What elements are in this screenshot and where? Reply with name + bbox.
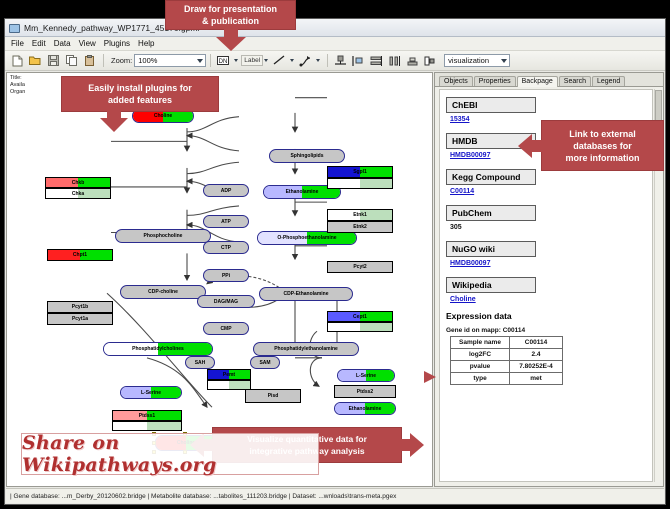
screenshot-root: Mm_Kennedy_pathway_WP1771_45176.gpml Fil… bbox=[0, 0, 670, 509]
node-phosphatidylcholines[interactable]: Phosphatidylcholines bbox=[103, 342, 213, 356]
expr-cell-value: C00114 bbox=[510, 337, 563, 349]
pathway-canvas[interactable]: Title: Availa Organ bbox=[6, 72, 433, 487]
datanode-icon[interactable]: DN bbox=[215, 52, 231, 69]
stack-icon[interactable] bbox=[368, 52, 384, 69]
node-pemt[interactable]: Pemt bbox=[207, 369, 251, 380]
node-cept1[interactable]: Cept1 bbox=[327, 311, 393, 322]
group-icon[interactable] bbox=[404, 52, 420, 69]
svg-text:DN: DN bbox=[219, 59, 228, 65]
node-label: Phosphocholine bbox=[144, 233, 183, 239]
callout-draw-line1: Draw for presentation bbox=[184, 3, 277, 15]
node-atp[interactable]: ATP bbox=[203, 215, 249, 228]
menu-item-help[interactable]: Help bbox=[138, 39, 154, 48]
side-panel-tabs: Objects Properties Backpage Search Legen… bbox=[435, 73, 663, 87]
node-etnk1[interactable]: Etnk1 bbox=[327, 209, 393, 221]
node-sah[interactable]: SAH bbox=[185, 356, 215, 369]
distribute-icon[interactable] bbox=[386, 52, 402, 69]
callout-links-line2: databases for bbox=[565, 140, 639, 152]
line-tool-icon[interactable] bbox=[271, 52, 287, 69]
node-label: CTP bbox=[221, 245, 231, 251]
node-ptdss1-lower[interactable] bbox=[112, 421, 182, 431]
tab-legend[interactable]: Legend bbox=[592, 76, 625, 86]
node-label: CMP bbox=[220, 326, 231, 332]
node-chkb[interactable]: Chkb bbox=[45, 177, 111, 188]
toolbar-separator bbox=[103, 54, 104, 67]
node-pcyt1b[interactable]: Pcyt1b bbox=[47, 301, 113, 313]
node-label: ATP bbox=[221, 219, 231, 225]
node-chka[interactable]: Chka bbox=[45, 188, 111, 199]
paste-icon[interactable] bbox=[81, 52, 97, 69]
save-icon[interactable] bbox=[45, 52, 61, 69]
share-banner: Share on Wikipathways.org bbox=[21, 433, 319, 475]
pathvisio-window: Mm_Kennedy_pathway_WP1771_45176.gpml Fil… bbox=[4, 18, 666, 505]
tab-backpage[interactable]: Backpage bbox=[517, 76, 558, 87]
copy-icon[interactable] bbox=[63, 52, 79, 69]
status-text: | Gene database: ...m_Derby_20120602.bri… bbox=[6, 493, 396, 500]
node-label: Pcyt1a bbox=[72, 316, 88, 322]
callout-draw: Draw for presentation & publication bbox=[165, 0, 296, 30]
chevron-down-icon[interactable] bbox=[316, 59, 320, 62]
callout-plugins-arrow bbox=[99, 110, 129, 132]
node-chpt1[interactable]: Chpt1 bbox=[47, 249, 113, 261]
scrollbar-thumb[interactable] bbox=[655, 90, 662, 124]
expr-cell-value: met bbox=[510, 373, 563, 385]
callout-links-arrow bbox=[518, 132, 544, 160]
callout-plugins-line1: Easily install plugins for bbox=[88, 82, 192, 94]
backpage-value-pubchem: 305 bbox=[450, 224, 646, 231]
callout-visualize-arrow-right bbox=[400, 431, 424, 459]
backpage-link-kegg[interactable]: C00114 bbox=[450, 188, 646, 195]
expr-cell-value: 7.80252E-4 bbox=[510, 361, 563, 373]
title-bar: Mm_Kennedy_pathway_WP1771_45176.gpml bbox=[5, 19, 665, 37]
align-left-icon[interactable] bbox=[350, 52, 366, 69]
toolbar-separator bbox=[327, 54, 328, 67]
callout-links-line3: more information bbox=[565, 152, 639, 164]
node-pcyt2[interactable]: Pcyt2 bbox=[327, 261, 393, 273]
zoom-combo[interactable]: 100% bbox=[134, 54, 206, 67]
zoom-label: Zoom: bbox=[111, 56, 132, 65]
callout-links-line1: Link to external bbox=[565, 128, 639, 140]
node-sgpl1[interactable]: Sgpl1 bbox=[327, 166, 393, 178]
toolbar-separator bbox=[210, 54, 211, 67]
node-pcyt1a[interactable]: Pcyt1a bbox=[47, 313, 113, 325]
tab-properties[interactable]: Properties bbox=[474, 76, 516, 86]
chevron-down-icon[interactable] bbox=[290, 59, 294, 62]
share-banner-text: Share on Wikipathways.org bbox=[22, 432, 318, 476]
gene-id-label: Gene id on mapp: C00114 bbox=[446, 327, 646, 334]
node-label: Pisd bbox=[268, 393, 279, 399]
tab-search[interactable]: Search bbox=[559, 76, 591, 86]
node-o-phosphoethanolamine[interactable]: O-Phosphoethanolamine bbox=[257, 231, 357, 245]
chevron-down-icon[interactable] bbox=[264, 59, 268, 62]
menu-item-file[interactable]: File bbox=[11, 39, 24, 48]
table-row: type met bbox=[451, 373, 563, 385]
node-label: Pcyt1b bbox=[72, 304, 88, 310]
pathvisio-icon bbox=[8, 22, 20, 33]
node-etnk2[interactable]: Etnk2 bbox=[327, 221, 393, 233]
node-label: SAH bbox=[195, 360, 206, 366]
node-phosphatidylethanolamine[interactable]: Phosphatidylethanolamine bbox=[253, 342, 359, 356]
menu-bar: File Edit Data View Plugins Help bbox=[5, 37, 665, 51]
node-label: SAM bbox=[259, 360, 270, 366]
callout-draw-line2: & publication bbox=[184, 15, 277, 27]
backpage-link-wikipedia[interactable]: Choline bbox=[450, 296, 646, 303]
node-label: DAG/MAG bbox=[214, 299, 238, 305]
node-l-serine-right[interactable]: L-Serine bbox=[337, 369, 395, 382]
node-sphingolipids[interactable]: Sphingolipids bbox=[269, 149, 345, 163]
node-ptdss1[interactable]: Ptdss1 bbox=[112, 410, 182, 421]
backpage-header-pubchem: PubChem bbox=[446, 205, 536, 221]
backpage-header-nugo: NuGO wiki bbox=[446, 241, 536, 257]
visualization-value: visualization bbox=[448, 56, 489, 65]
chevron-down-icon bbox=[197, 59, 203, 63]
node-label: Sphingolipids bbox=[290, 153, 323, 159]
menu-item-view[interactable]: View bbox=[79, 39, 96, 48]
node-label: CDP-Ethanolamine bbox=[283, 291, 328, 297]
expression-data-title: Expression data bbox=[446, 311, 646, 321]
visualization-combo[interactable]: visualization bbox=[444, 54, 510, 67]
new-icon[interactable] bbox=[9, 52, 25, 69]
node-cdp-choline[interactable]: CDP-choline bbox=[120, 285, 206, 299]
node-label: CDP-choline bbox=[148, 289, 178, 295]
node-l-serine-left[interactable]: L-Serine bbox=[120, 386, 182, 399]
node-label: Ptdss2 bbox=[357, 389, 373, 395]
chevron-down-icon bbox=[501, 59, 507, 63]
open-icon[interactable] bbox=[27, 52, 43, 69]
menu-item-edit[interactable]: Edit bbox=[32, 39, 46, 48]
callout-draw-arrow bbox=[215, 29, 247, 51]
backpage-header-wikipedia: Wikipedia bbox=[446, 277, 536, 293]
callout-plugins-line2: added features bbox=[88, 94, 192, 106]
expression-table: Sample name C00114 log2FC 2.4 pvalue 7.8… bbox=[450, 336, 563, 385]
node-label: Etnk2 bbox=[353, 224, 367, 230]
node-label: Pcyt2 bbox=[353, 264, 366, 270]
callout-plugins: Easily install plugins for added feature… bbox=[61, 76, 219, 112]
node-label: ADP bbox=[221, 188, 232, 194]
zoom-value: 100% bbox=[138, 56, 157, 65]
expr-cell-key: Sample name bbox=[451, 337, 510, 349]
node-sam[interactable]: SAM bbox=[250, 356, 280, 369]
node-ctp[interactable]: CTP bbox=[203, 241, 249, 254]
chevron-down-icon[interactable] bbox=[234, 59, 238, 62]
node-pisd[interactable]: Pisd bbox=[245, 389, 301, 403]
label-tool-button[interactable]: Label bbox=[241, 55, 263, 66]
menu-item-plugins[interactable]: Plugins bbox=[104, 39, 130, 48]
node-ethanolamine-bottom[interactable]: Ethanolamine bbox=[334, 402, 396, 415]
table-row: log2FC 2.4 bbox=[451, 349, 563, 361]
node-cdp-ethanolamine[interactable]: CDP-Ethanolamine bbox=[259, 287, 353, 301]
backpage-link-nugo[interactable]: HMDB00097 bbox=[450, 260, 646, 267]
expr-cell-value: 2.4 bbox=[510, 349, 563, 361]
node-ppi[interactable]: PPi bbox=[203, 269, 249, 282]
toolbar: Zoom: 100% DN Label bbox=[5, 51, 665, 71]
order-icon[interactable] bbox=[422, 52, 438, 69]
interaction-tool-icon[interactable] bbox=[297, 52, 313, 69]
node-sgpl1-lower[interactable] bbox=[327, 178, 393, 189]
node-phosphocholine[interactable]: Phosphocholine bbox=[115, 229, 211, 243]
backpage-header-kegg: Kegg Compound bbox=[446, 169, 536, 185]
align-top-icon[interactable] bbox=[332, 52, 348, 69]
callout-expression-marker bbox=[424, 371, 436, 383]
node-cmp[interactable]: CMP bbox=[203, 322, 249, 335]
callout-links: Link to external databases for more info… bbox=[541, 120, 664, 171]
table-row: pvalue 7.80252E-4 bbox=[451, 361, 563, 373]
node-adp[interactable]: ADP bbox=[203, 184, 249, 197]
table-row: Sample name C00114 bbox=[451, 337, 563, 349]
node-ptdss2[interactable]: Ptdss2 bbox=[334, 385, 396, 398]
status-bar: | Gene database: ...m_Derby_20120602.bri… bbox=[6, 488, 664, 503]
menu-item-data[interactable]: Data bbox=[54, 39, 71, 48]
node-label: Phosphatidylethanolamine bbox=[274, 346, 338, 352]
node-cept1-lower[interactable] bbox=[327, 322, 393, 332]
tab-objects[interactable]: Objects bbox=[439, 76, 473, 86]
expr-cell-key: log2FC bbox=[451, 349, 510, 361]
expr-cell-key: pvalue bbox=[451, 361, 510, 373]
node-dagmag[interactable]: DAG/MAG bbox=[197, 295, 255, 308]
expr-cell-key: type bbox=[451, 373, 510, 385]
node-label: PPi bbox=[222, 273, 230, 279]
backpage-header-chebi: ChEBI bbox=[446, 97, 536, 113]
